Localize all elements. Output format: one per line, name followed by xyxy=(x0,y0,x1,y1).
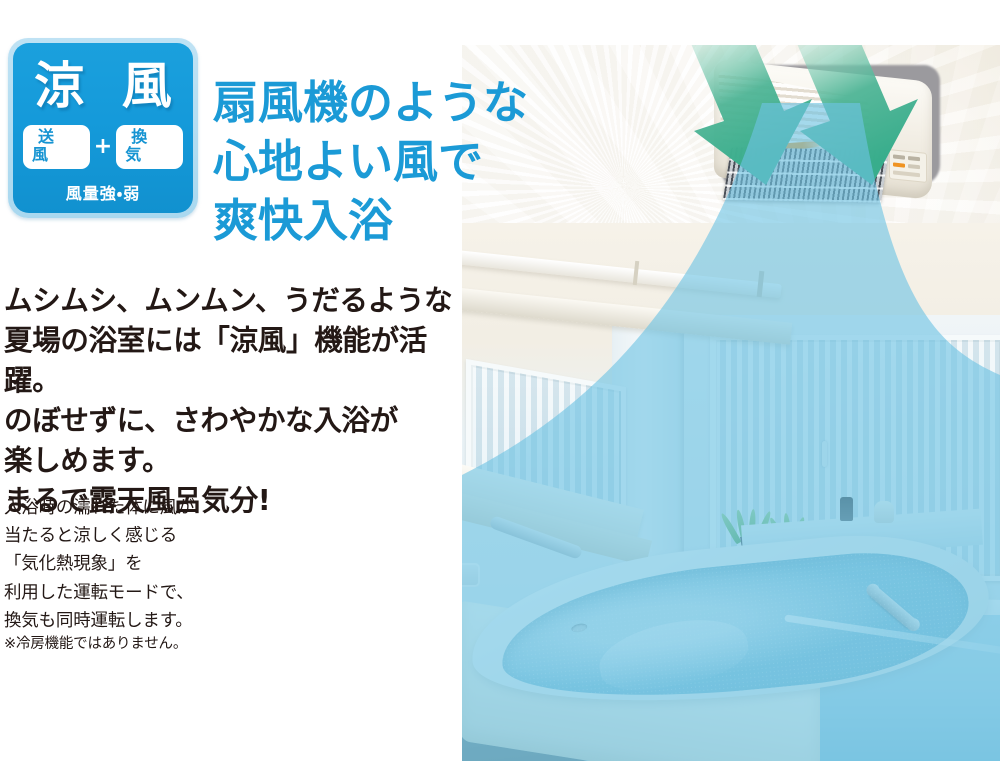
plus-icon: + xyxy=(94,136,112,158)
window-mullion xyxy=(710,335,716,571)
ryofu-badge: 涼 風 送 風 + 換 気 風量強・弱 xyxy=(8,38,198,218)
badge-pill-ventilate: 換 気 xyxy=(116,125,183,169)
badge-inner: 涼 風 送 風 + 換 気 風量強・弱 xyxy=(13,43,193,213)
product-photo xyxy=(462,45,1000,761)
window-handle xyxy=(822,441,827,467)
lead-paragraph: ムシムシ、ムンムン、うだるような 夏場の浴室には「涼風」機能が活躍。 のぼせずに… xyxy=(4,281,474,521)
page-headline: 扇風機のような 心地よい風で 爽快入浴 xyxy=(213,74,528,251)
badge-airflow-level: 風量強・弱 xyxy=(66,180,140,204)
tub-basin xyxy=(495,543,975,713)
note-paragraph: 入浴時の濡れた体に風が 当たると涼しく感じる 「気化熱現象」を 利用した運転モー… xyxy=(4,494,304,636)
intake-arrows xyxy=(662,45,922,214)
arrow-shape xyxy=(672,45,918,185)
badge-pill-blow: 送 風 xyxy=(23,125,90,169)
bottle xyxy=(840,497,853,521)
tub-seat xyxy=(594,609,753,700)
bathroom-scene xyxy=(462,223,1000,761)
tub-grip-handle xyxy=(868,585,918,630)
tub-drain xyxy=(571,622,588,633)
ceiling-rail xyxy=(462,250,782,298)
bathtub xyxy=(462,541,1000,761)
badge-title: 涼 風 xyxy=(24,61,181,111)
disclaimer-text: ※冷房機能ではありません。 xyxy=(4,632,187,653)
shower-hook xyxy=(462,563,480,587)
badge-mode-pills: 送 風 + 換 気 xyxy=(23,125,183,169)
bottle xyxy=(874,501,894,523)
